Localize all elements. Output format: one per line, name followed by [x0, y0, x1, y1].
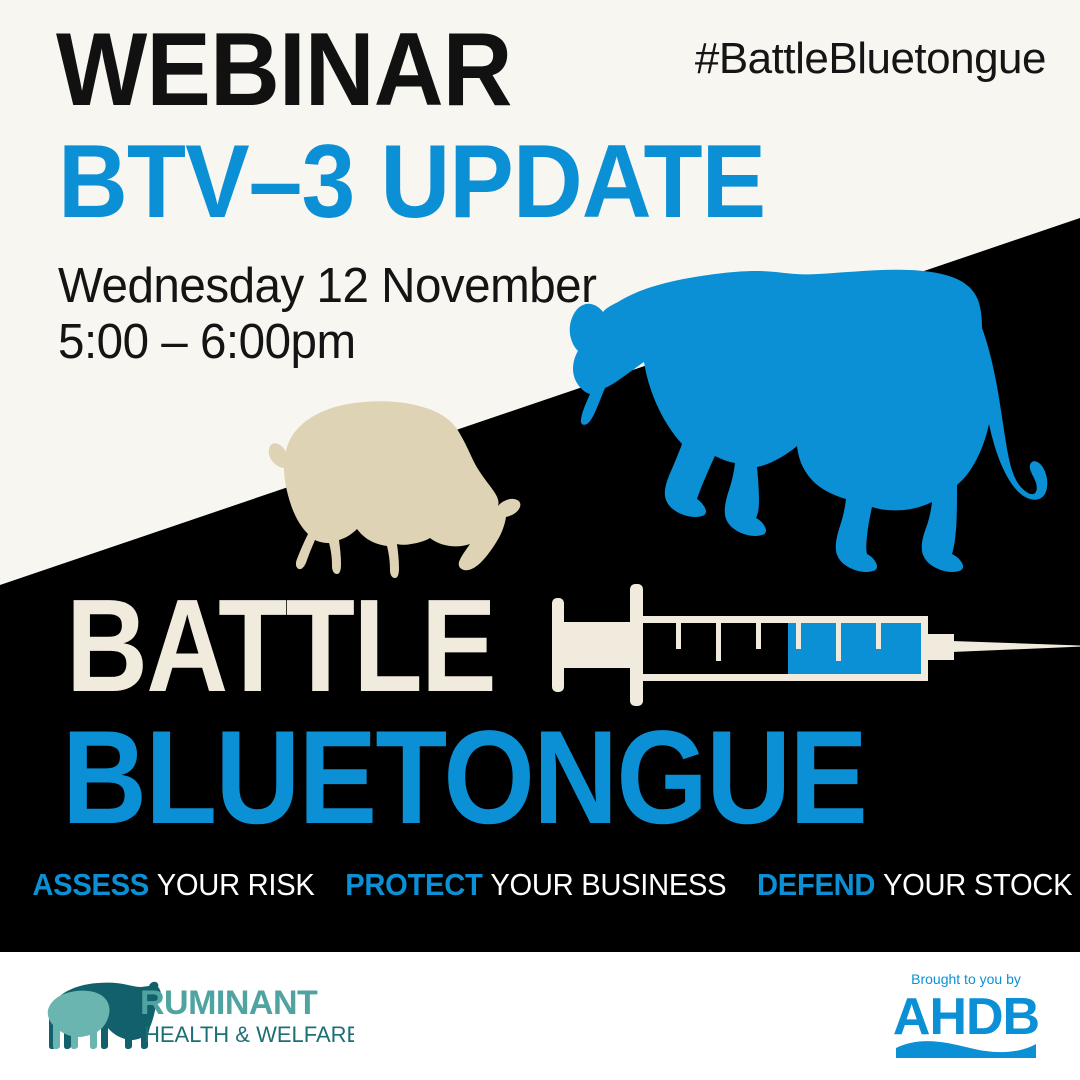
bluetongue-wordmark: BLUETONGUE [62, 716, 866, 840]
event-datetime: Wednesday 12 November 5:00 – 6:00pm [58, 258, 596, 370]
tagline-plain-stock: YOUR STOCK [883, 867, 1072, 902]
tagline-accent-assess: ASSESS [32, 867, 149, 902]
ahdb-name: AHDB [893, 988, 1039, 1046]
battle-wordmark-row: BATTLE [66, 586, 1066, 706]
page-title-webinar: WEBINAR [56, 18, 512, 122]
ahdb-eyebrow: Brought to you by [911, 971, 1021, 987]
rhw-sheep-icon [48, 991, 110, 1049]
event-date: Wednesday 12 November [58, 258, 596, 314]
battle-wordmark: BATTLE [66, 586, 495, 706]
tagline-plain-risk: YOUR RISK [157, 867, 315, 902]
tagline: ASSESS YOUR RISK PROTECT YOUR BUSINESS D… [32, 866, 1047, 904]
tagline-accent-protect: PROTECT [345, 867, 482, 902]
grazing-sheep-silhouette-icon [228, 388, 532, 592]
ruminant-health-welfare-logo: RUMINANT HEALTH & WELFARE [44, 974, 354, 1052]
ahdb-logo: Brought to you by AHDB [890, 962, 1042, 1062]
hashtag-label: #BattleBluetongue [695, 36, 1046, 82]
tagline-plain-business: YOUR BUSINESS [490, 867, 726, 902]
tagline-accent-defend: DEFEND [757, 867, 875, 902]
page-subtitle-btv3-update: BTV–3 UPDATE [58, 130, 765, 234]
event-time: 5:00 – 6:00pm [58, 314, 596, 370]
poster-canvas: BATTLE [0, 0, 1080, 1080]
vaccine-syringe-icon [548, 582, 1080, 708]
rhw-name-line-one: RUMINANT [140, 984, 318, 1022]
rhw-name-line-two: HEALTH & WELFARE [144, 1022, 354, 1047]
